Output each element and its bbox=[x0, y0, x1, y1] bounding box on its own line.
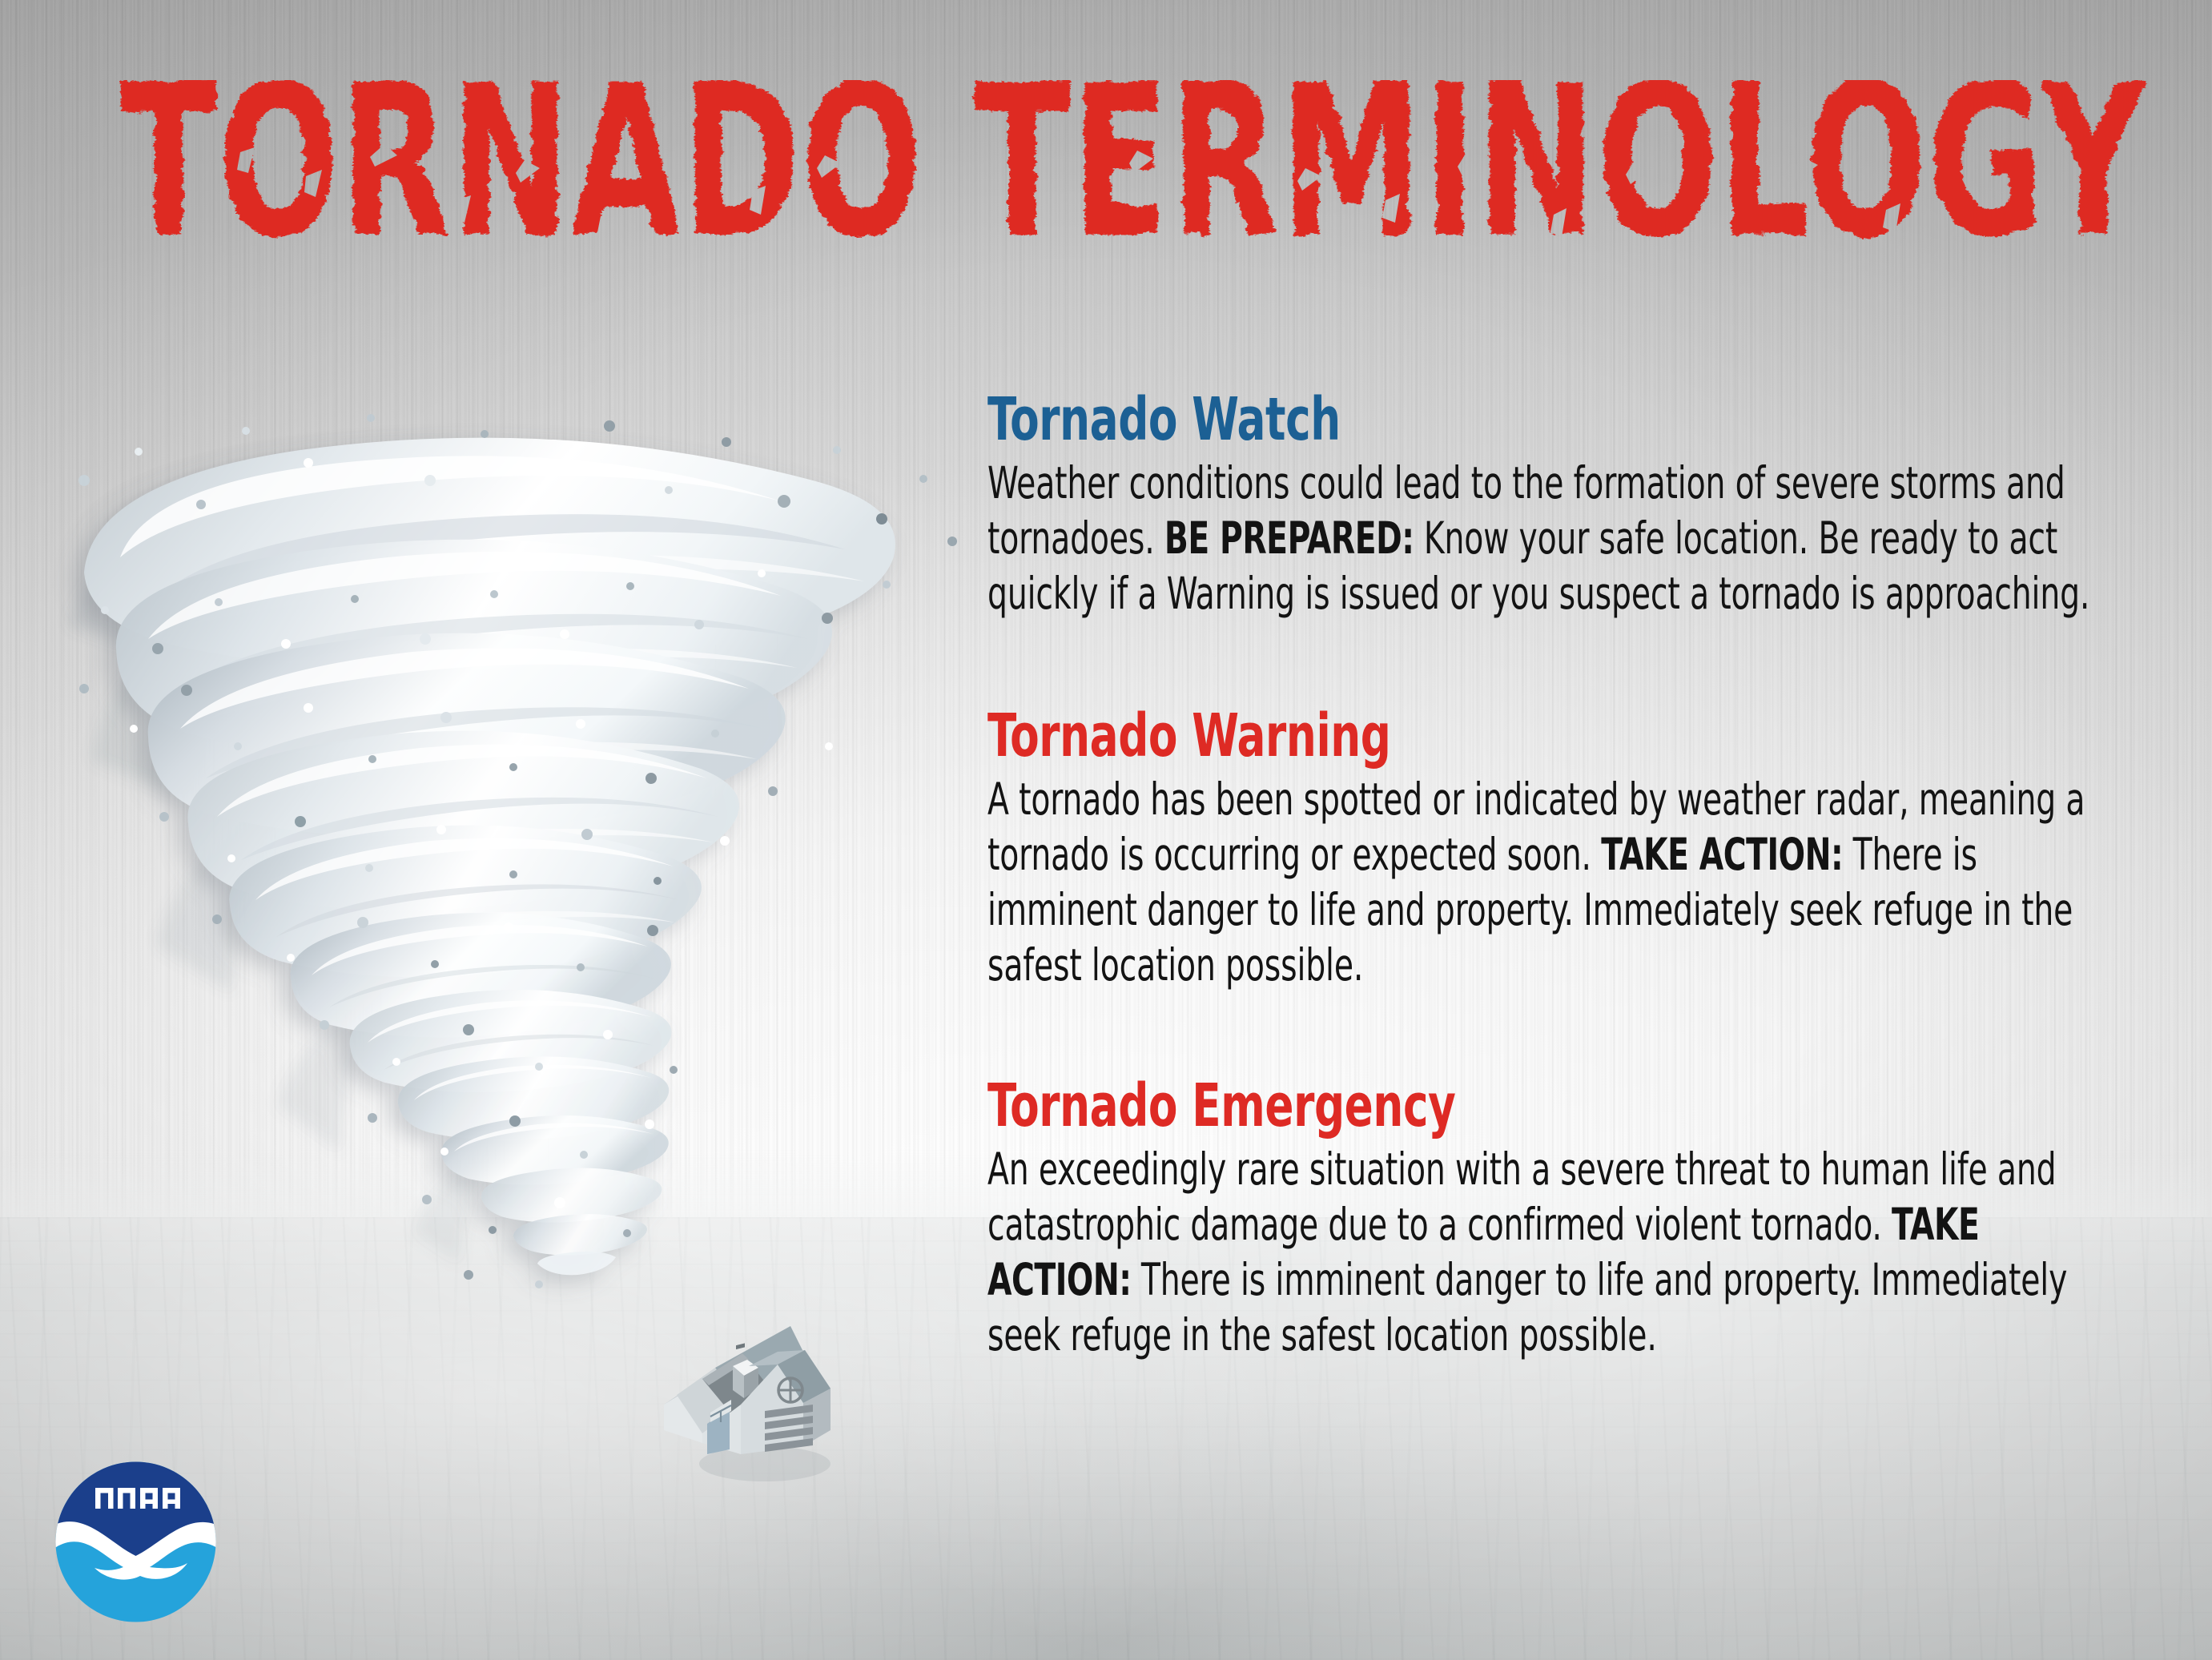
section-body-tornado-watch: Weather conditions could lead to the for… bbox=[987, 456, 2113, 621]
tornado-terminology-poster: TORNADO TERMINOLOGY bbox=[0, 0, 2212, 1660]
house-icon bbox=[653, 1321, 853, 1489]
page-title: TORNADO TERMINOLOGY bbox=[120, 120, 2106, 280]
body-emphasis: TAKE ACTION: bbox=[1601, 829, 1843, 880]
definitions-column: Tornado Watch Weather conditions could l… bbox=[987, 390, 2113, 1363]
section-spacer bbox=[987, 655, 2113, 706]
section-body-tornado-emergency: An exceedingly rare situation with a sev… bbox=[987, 1142, 2113, 1363]
section-body-tornado-warning: A tornado has been spotted or indicated … bbox=[987, 772, 2113, 993]
body-emphasis: BE PREPARED: bbox=[1164, 512, 1414, 564]
noaa-logo bbox=[50, 1456, 222, 1628]
section-tornado-watch: Tornado Watch Weather conditions could l… bbox=[987, 390, 2113, 621]
page-title-text: TORNADO TERMINOLOGY bbox=[120, 39, 2147, 283]
section-heading-tornado-watch: Tornado Watch bbox=[987, 390, 2113, 449]
section-heading-tornado-emergency: Tornado Emergency bbox=[987, 1076, 2113, 1135]
section-tornado-warning: Tornado Warning A tornado has been spott… bbox=[987, 706, 2113, 993]
section-tornado-emergency: Tornado Emergency An exceedingly rare si… bbox=[987, 1076, 2113, 1363]
section-spacer bbox=[987, 1027, 2113, 1076]
tornado-funnel-illustration bbox=[36, 384, 989, 1313]
body-text: There is imminent danger to life and pro… bbox=[987, 1254, 2067, 1361]
section-heading-tornado-warning: Tornado Warning bbox=[987, 706, 2113, 766]
